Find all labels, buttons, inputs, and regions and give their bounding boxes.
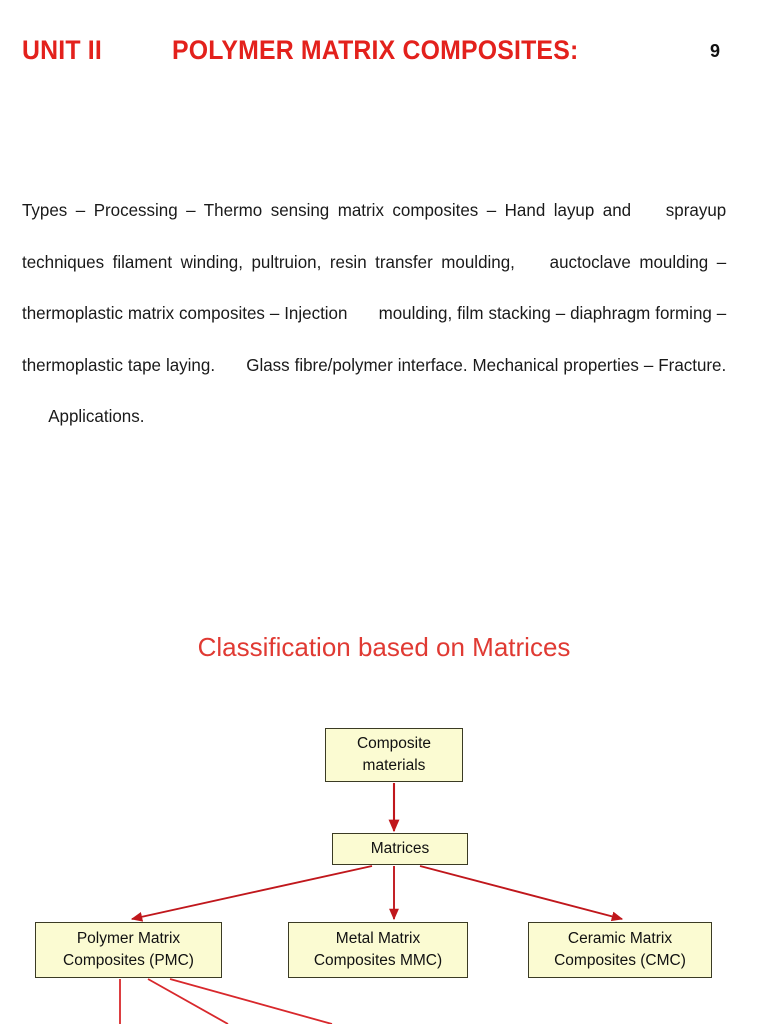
node-line-2: Composites MMC): [314, 950, 442, 972]
node-line-2: materials: [363, 755, 426, 777]
node-matrices[interactable]: Matrices: [332, 833, 468, 865]
node-line-1: Composite: [357, 733, 431, 755]
unit-label: UNIT II: [22, 30, 102, 70]
arrow-matrices-to-pmc: [132, 866, 372, 919]
page-header: UNIT II POLYMER MATRIX COMPOSITES: 9: [0, 30, 768, 78]
node-line-2: Composites (PMC): [63, 950, 194, 972]
node-line-1: Metal Matrix: [336, 928, 420, 950]
syllabus-paragraph: Types – Processing – Thermo sensing matr…: [22, 185, 726, 443]
syllabus-line-5: Glass fibre/polymer interface. Mechanica…: [246, 355, 726, 375]
node-composite-materials[interactable]: Composite materials: [325, 728, 463, 782]
page-title: POLYMER MATRIX COMPOSITES:: [172, 30, 578, 70]
syllabus-line-1: Types – Processing – Thermo sensing matr…: [22, 200, 631, 220]
section-heading: Classification based on Matrices: [0, 630, 768, 664]
node-line-1: Ceramic Matrix: [568, 928, 672, 950]
node-line-1: Polymer Matrix: [77, 928, 180, 950]
node-line-2: Composites (CMC): [554, 950, 686, 972]
arrow-matrices-to-cmc: [420, 866, 622, 919]
node-line-1: Matrices: [371, 838, 430, 860]
arrow-pmc-branch-2: [148, 979, 228, 1024]
page-number: 9: [710, 30, 720, 72]
node-ceramic-matrix-composites[interactable]: Ceramic Matrix Composites (CMC): [528, 922, 712, 978]
node-metal-matrix-composites[interactable]: Metal Matrix Composites MMC): [288, 922, 468, 978]
syllabus-line-6: Applications.: [48, 406, 144, 426]
node-polymer-matrix-composites[interactable]: Polymer Matrix Composites (PMC): [35, 922, 222, 978]
arrow-pmc-branch-3: [170, 979, 332, 1024]
classification-flowchart: Composite materials Matrices Polymer Mat…: [0, 710, 768, 1024]
